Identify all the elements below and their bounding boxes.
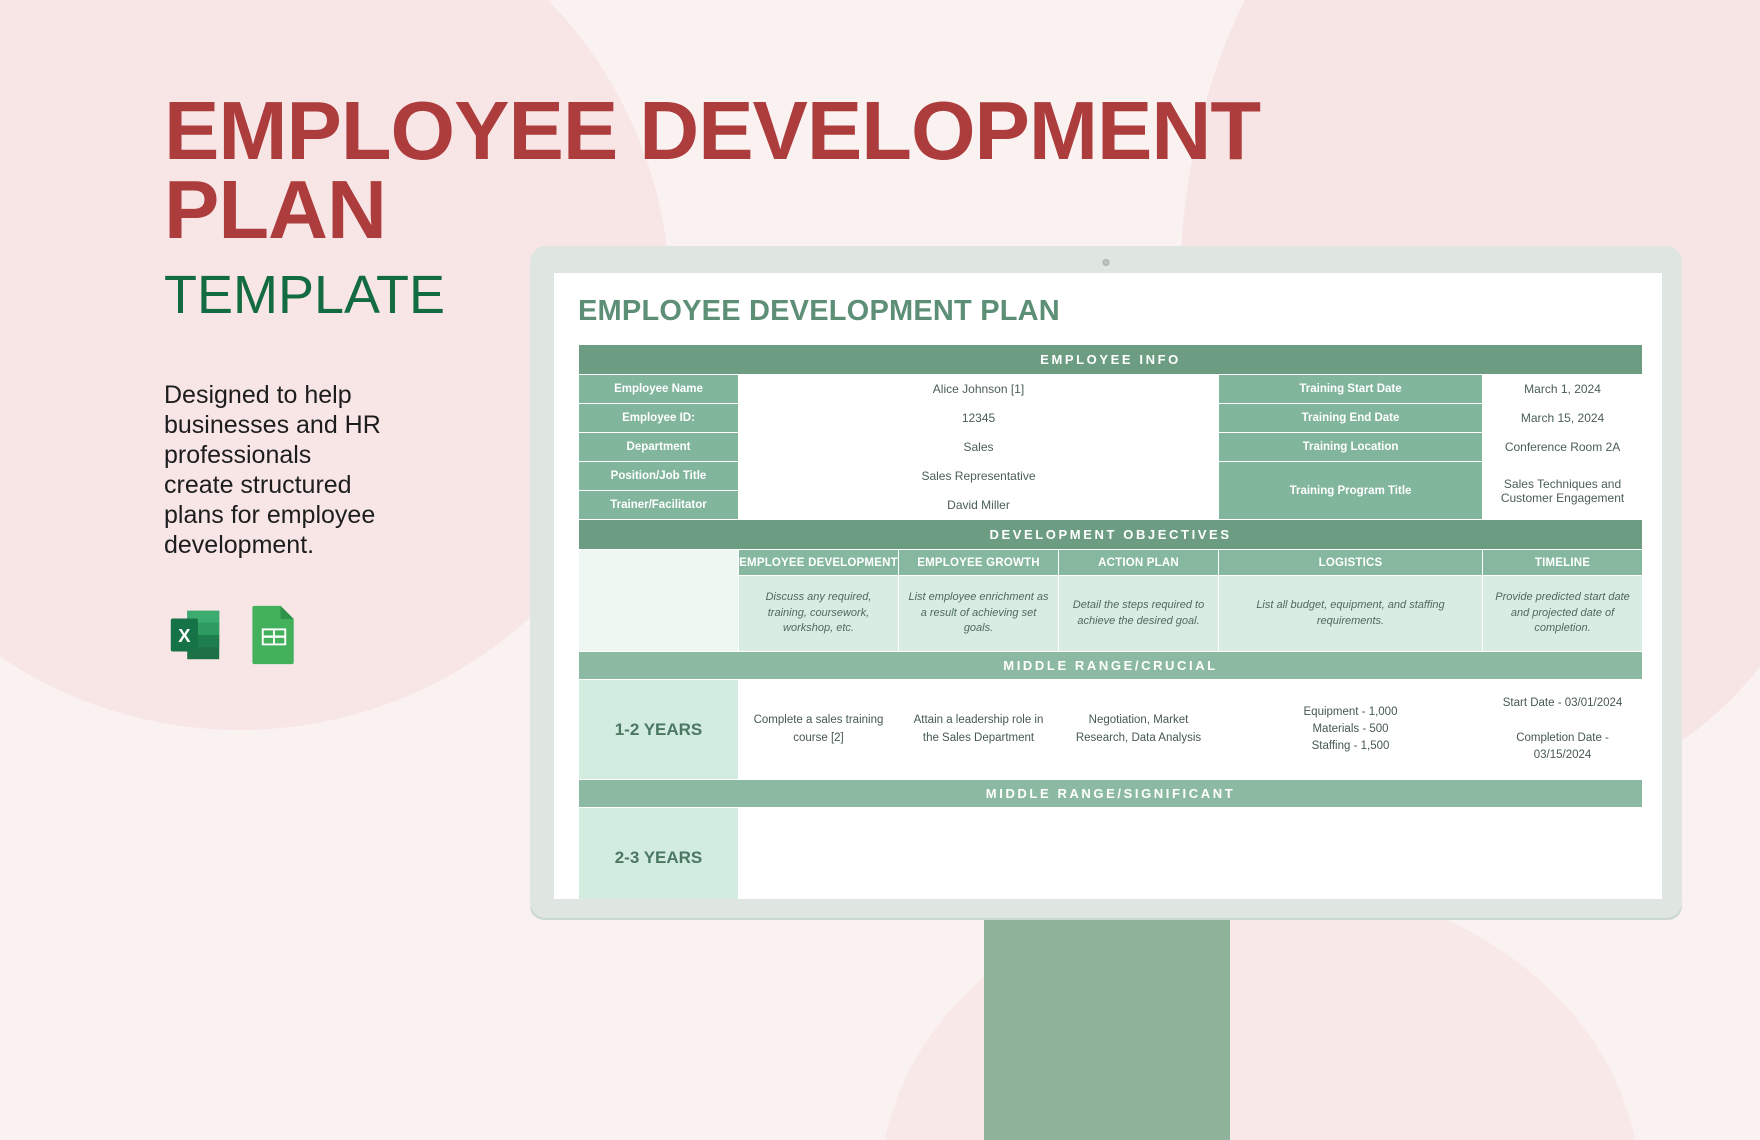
- corner-spacer-cell: [579, 550, 739, 652]
- field-value[interactable]: Sales Representative: [739, 462, 1219, 491]
- column-hint: Detail the steps required to achieve the…: [1059, 576, 1219, 652]
- field-value[interactable]: March 1, 2024: [1483, 375, 1643, 404]
- field-label: Trainer/Facilitator: [579, 491, 739, 520]
- column-hint: Discuss any required, training, coursewo…: [739, 576, 899, 652]
- table-cell[interactable]: [1219, 808, 1483, 900]
- field-value[interactable]: March 15, 2024: [1483, 404, 1643, 433]
- field-value[interactable]: David Miller: [739, 491, 1219, 520]
- table-row: Position/Job Title Sales Representative …: [579, 462, 1643, 491]
- table-row: MIDDLE RANGE/CRUCIAL: [579, 652, 1643, 680]
- table-row: DEVELOPMENT OBJECTIVES: [579, 520, 1643, 550]
- table-cell[interactable]: [1059, 808, 1219, 900]
- table-cell[interactable]: [1483, 808, 1643, 900]
- column-header: ACTION PLAN: [1059, 550, 1219, 576]
- field-label: Training Start Date: [1219, 375, 1483, 404]
- table-row: 1-2 YEARS Complete a sales training cour…: [579, 680, 1643, 780]
- table-cell[interactable]: [739, 808, 899, 900]
- desktop-monitor: EMPLOYEE DEVELOPMENT PLAN EMPLOYEE INFO: [530, 246, 1682, 918]
- table-row: 2-3 YEARS: [579, 808, 1643, 900]
- excel-icon[interactable]: X: [164, 604, 226, 671]
- field-label: Training End Date: [1219, 404, 1483, 433]
- table-cell[interactable]: Start Date - 03/01/2024 Completion Date …: [1483, 680, 1643, 780]
- table-cell[interactable]: [899, 808, 1059, 900]
- spreadsheet-title: EMPLOYEE DEVELOPMENT PLAN: [578, 295, 1642, 328]
- column-hint: List employee enrichment as a result of …: [899, 576, 1059, 652]
- table-cell[interactable]: Equipment - 1,000 Materials - 500 Staffi…: [1219, 680, 1483, 780]
- table-row: Department Sales Training Location Confe…: [579, 433, 1643, 462]
- field-value[interactable]: Alice Johnson [1]: [739, 375, 1219, 404]
- row-label: 1-2 YEARS: [579, 680, 739, 780]
- table-row: Employee Name Alice Johnson [1] Training…: [579, 375, 1643, 404]
- column-header: LOGISTICS: [1219, 550, 1483, 576]
- table-cell[interactable]: Complete a sales training course [2]: [739, 680, 899, 780]
- section-header-employee-info: EMPLOYEE INFO: [579, 345, 1643, 375]
- column-header: EMPLOYEE GROWTH: [899, 550, 1059, 576]
- row-label: 2-3 YEARS: [579, 808, 739, 900]
- section-header-development-objectives: DEVELOPMENT OBJECTIVES: [579, 520, 1643, 550]
- google-sheets-icon[interactable]: [248, 604, 300, 671]
- page-title: EMPLOYEE DEVELOPMENT PLAN: [164, 92, 1414, 250]
- hero-description: Designed to help businesses and HR profe…: [164, 380, 444, 560]
- spreadsheet: EMPLOYEE DEVELOPMENT PLAN EMPLOYEE INFO: [578, 295, 1642, 899]
- table-row: Employee ID: 12345 Training End Date Mar…: [579, 404, 1643, 433]
- table-row: EMPLOYEE DEVELOPMENT EMPLOYEE GROWTH ACT…: [579, 550, 1643, 576]
- svg-text:X: X: [178, 624, 191, 645]
- monitor-stand-neck: [984, 918, 1230, 1140]
- monitor-screen: EMPLOYEE DEVELOPMENT PLAN EMPLOYEE INFO: [554, 273, 1662, 899]
- field-label: Training Program Title: [1219, 462, 1483, 520]
- column-header: TIMELINE: [1483, 550, 1643, 576]
- column-hint: Provide predicted start date and project…: [1483, 576, 1643, 652]
- field-value[interactable]: 12345: [739, 404, 1219, 433]
- development-plan-table: EMPLOYEE INFO Employee Name Alice Johnso…: [578, 344, 1643, 899]
- table-row: EMPLOYEE INFO: [579, 345, 1643, 375]
- table-row: Discuss any required, training, coursewo…: [579, 576, 1643, 652]
- field-value[interactable]: Conference Room 2A: [1483, 433, 1643, 462]
- column-hint: List all budget, equipment, and staffing…: [1219, 576, 1483, 652]
- field-value[interactable]: Sales Techniques and Customer Engagement: [1483, 462, 1643, 520]
- webcam-icon: [1103, 259, 1110, 266]
- field-label: Employee ID:: [579, 404, 739, 433]
- format-icon-row: X: [164, 604, 554, 671]
- table-cell[interactable]: Negotiation, Market Research, Data Analy…: [1059, 680, 1219, 780]
- field-value[interactable]: Sales: [739, 433, 1219, 462]
- field-label: Position/Job Title: [579, 462, 739, 491]
- field-label: Training Location: [1219, 433, 1483, 462]
- section-header-middle-range-crucial: MIDDLE RANGE/CRUCIAL: [579, 652, 1643, 680]
- section-header-middle-range-significant: MIDDLE RANGE/SIGNIFICANT: [579, 780, 1643, 808]
- table-cell[interactable]: Attain a leadership role in the Sales De…: [899, 680, 1059, 780]
- column-header: EMPLOYEE DEVELOPMENT: [739, 550, 899, 576]
- table-row: MIDDLE RANGE/SIGNIFICANT: [579, 780, 1643, 808]
- hero-text-block: EMPLOYEE DEVELOPMENT PLAN TEMPLATE Desig…: [164, 92, 554, 671]
- field-label: Employee Name: [579, 375, 739, 404]
- field-label: Department: [579, 433, 739, 462]
- page-subtitle: TEMPLATE: [164, 268, 554, 322]
